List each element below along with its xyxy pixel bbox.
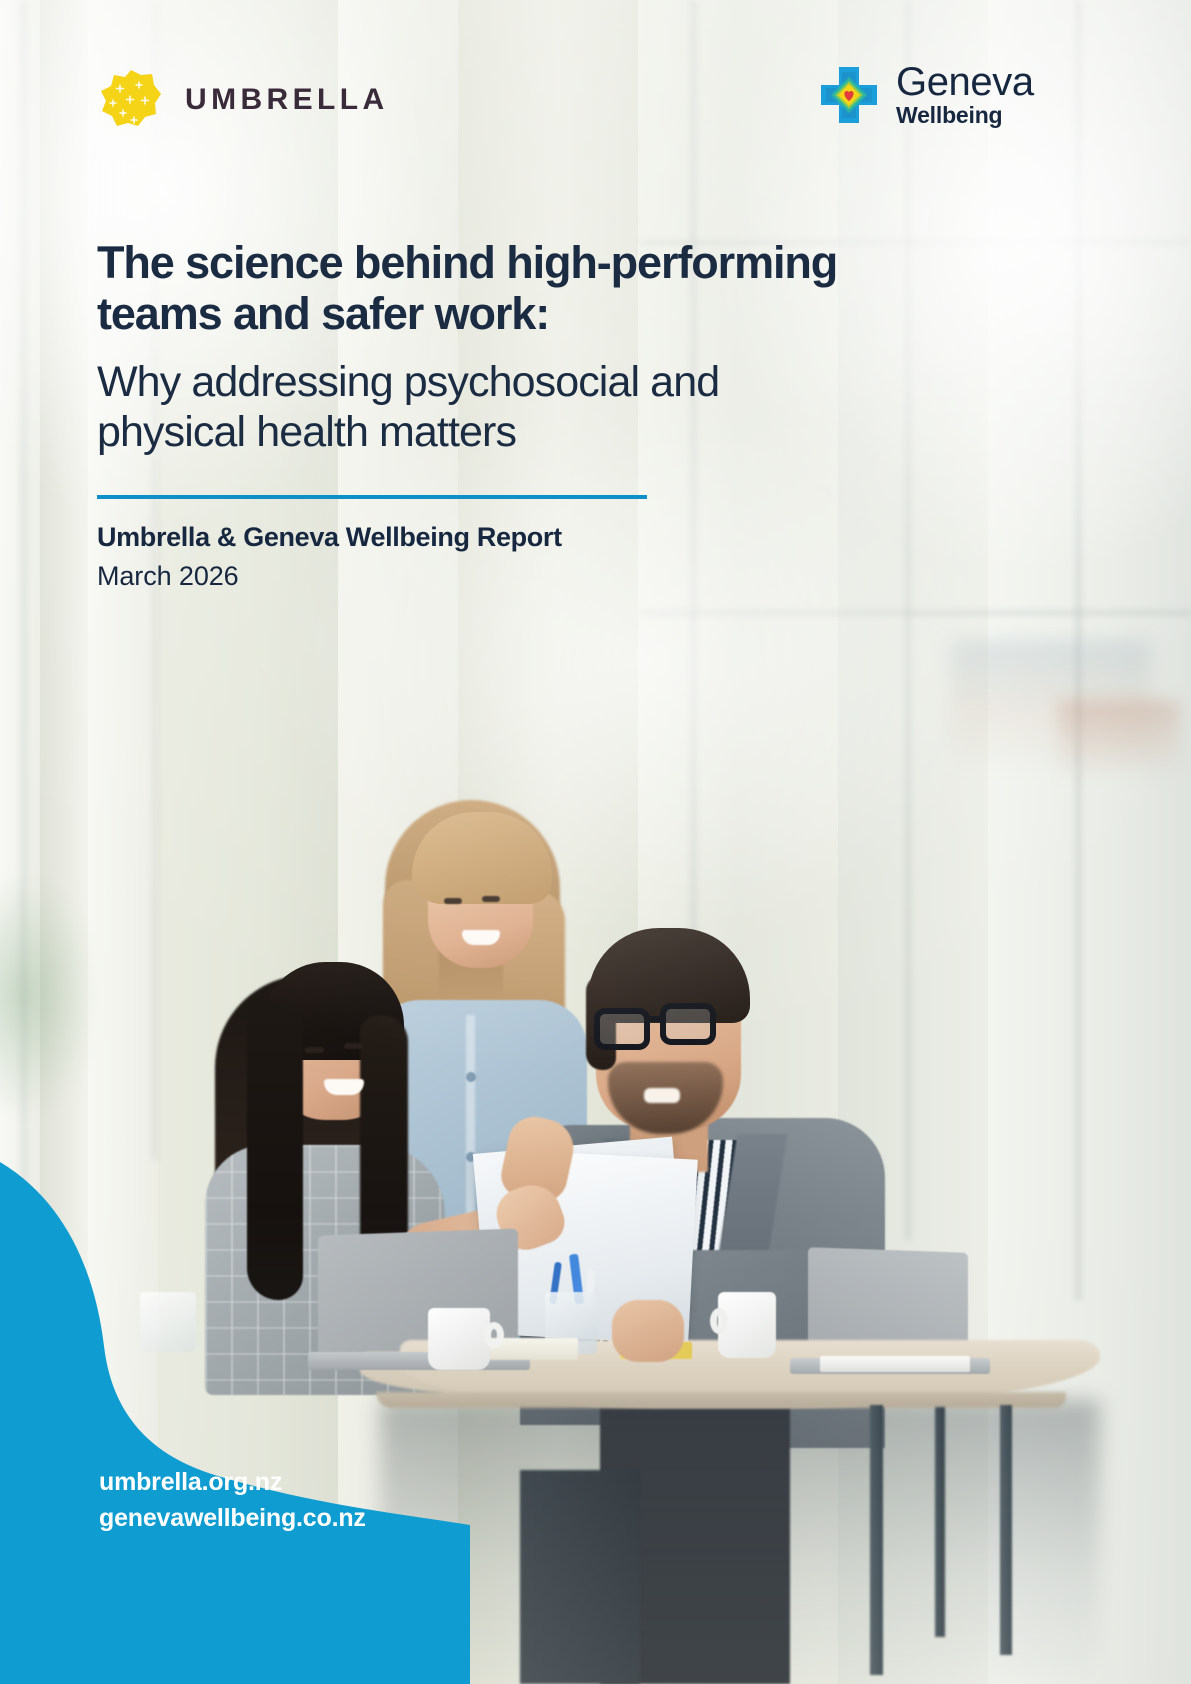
umbrella-website-link[interactable]: umbrella.org.nz: [99, 1465, 366, 1501]
eye: [305, 1047, 324, 1053]
smile: [462, 930, 500, 945]
eyeglasses-icon: [648, 1016, 664, 1022]
umbrella-starburst-icon: [99, 68, 163, 132]
eyeglasses-icon: [660, 1003, 716, 1045]
subtitle-line-1: Why addressing psychosocial and: [97, 358, 997, 408]
subtitle-line-2: physical health matters: [97, 408, 997, 458]
geneva-wordmark: Geneva Wellbeing: [896, 62, 1034, 127]
geneva-website-link[interactable]: genevawellbeing.co.nz: [99, 1501, 366, 1537]
cover-page: UMBRELLA Geneva Wellbeing The science be…: [0, 0, 1191, 1684]
page-title: The science behind high-performing teams…: [97, 238, 997, 340]
eye: [444, 898, 462, 904]
office-plant: [0, 880, 94, 1110]
report-date: March 2026: [97, 561, 997, 592]
geneva-name: Geneva: [896, 62, 1034, 102]
desk-leg: [935, 1407, 945, 1637]
mouth: [644, 1088, 680, 1103]
footer-links: umbrella.org.nz genevawellbeing.co.nz: [99, 1465, 366, 1536]
eyeglasses-icon: [594, 1008, 650, 1050]
geneva-wellbeing-logo: Geneva Wellbeing: [818, 62, 1034, 127]
notebook: [820, 1356, 970, 1372]
title-divider: [97, 495, 647, 499]
desk-leg: [1000, 1405, 1012, 1655]
desk-leg: [870, 1405, 883, 1675]
mug-handle: [710, 1308, 728, 1334]
geneva-cross-heart-icon: [818, 64, 880, 126]
shirt-button: [466, 1072, 476, 1082]
mug-handle: [484, 1322, 504, 1348]
title-line-2: teams and safer work:: [97, 289, 997, 340]
umbrella-wordmark: UMBRELLA: [185, 83, 389, 117]
geneva-sub: Wellbeing: [896, 104, 1034, 127]
umbrella-logo: UMBRELLA: [99, 68, 389, 132]
hand: [612, 1300, 684, 1362]
desk-edge: [376, 1392, 1066, 1408]
title-block: The science behind high-performing teams…: [97, 238, 997, 592]
eye: [482, 896, 500, 902]
city-view: [1059, 700, 1179, 780]
title-line-1: The science behind high-performing: [97, 238, 997, 289]
page-subtitle: Why addressing psychosocial and physical…: [97, 358, 997, 458]
office-chair: [520, 1470, 640, 1684]
footer-blob: [0, 1084, 470, 1684]
eye: [344, 1043, 363, 1049]
report-label: Umbrella & Geneva Wellbeing Report: [97, 522, 997, 553]
